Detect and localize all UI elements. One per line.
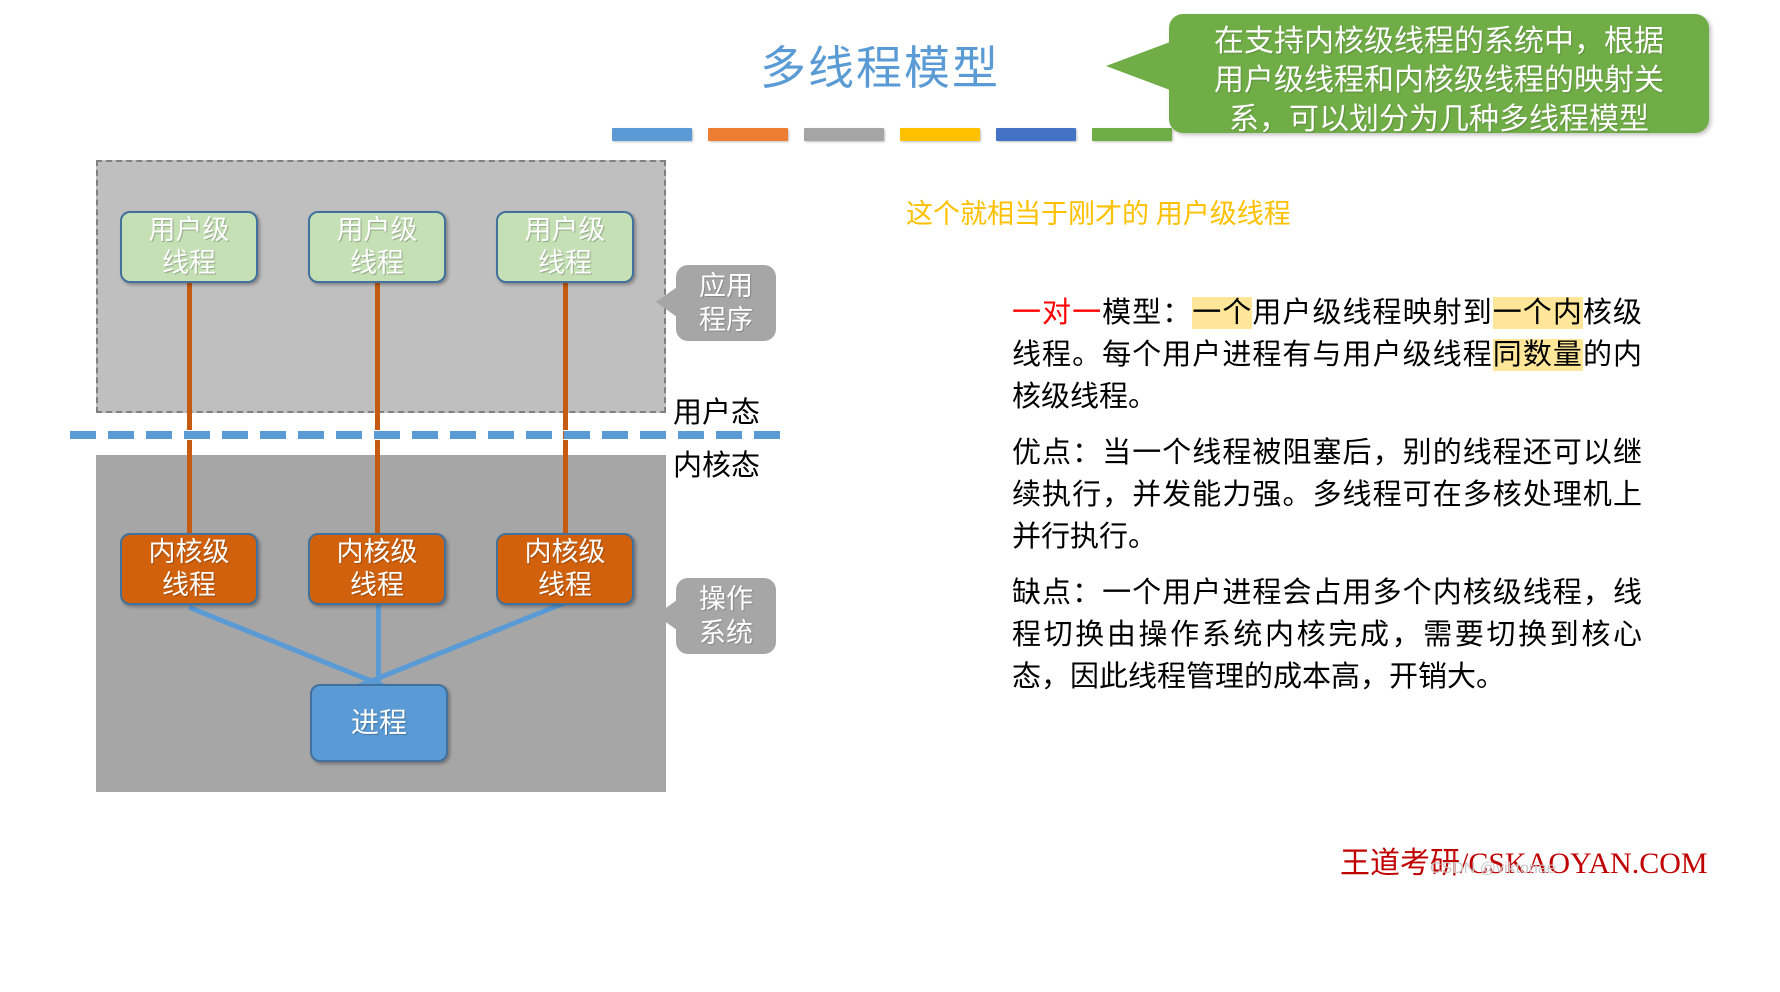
intro-callout-line-1: 在支持内核级线程的系统中，根据	[1183, 22, 1695, 61]
watermark: CSDN @viktoriae	[1430, 860, 1556, 878]
application-callout-tail-icon	[656, 287, 677, 317]
kernel-thread-label-2b: 线程	[350, 569, 404, 602]
accent-bar-2	[708, 128, 788, 141]
user-space-panel	[96, 160, 666, 413]
accent-bar-3	[804, 128, 884, 141]
model-paragraph: 一对一模型：一个用户级线程映射到一个内核级线程。每个用户进程有与用户级线程同数量…	[1012, 292, 1642, 418]
user-thread-label-2a: 用户级	[337, 214, 418, 247]
kernel-thread-label-1a: 内核级	[149, 536, 230, 569]
accent-bar-5	[996, 128, 1076, 141]
process-box[interactable]: 进程	[310, 684, 448, 762]
user-thread-label-2b: 线程	[350, 247, 404, 280]
user-thread-label-3b: 线程	[538, 247, 592, 280]
intro-callout-line-3: 系，可以划分为几种多线程模型	[1183, 100, 1695, 139]
user-mode-label: 用户态	[673, 389, 760, 431]
kernel-thread-label-3b: 线程	[538, 569, 592, 602]
process-label: 进程	[351, 707, 407, 740]
application-callout-line-1: 应用	[699, 269, 753, 303]
kernel-thread-box-1[interactable]: 内核级 线程	[120, 533, 258, 605]
model-highlight-1: 一个	[1192, 297, 1252, 329]
accent-bar-6	[1092, 128, 1172, 141]
pros-paragraph: 优点：当一个线程被阻塞后，别的线程还可以继续执行，并发能力强。多线程可在多核处理…	[1012, 432, 1642, 558]
model-highlight-3: 同	[1493, 339, 1523, 371]
user-thread-label-1b: 线程	[162, 247, 216, 280]
cons-paragraph: 缺点：一个用户进程会占用多个内核级线程，线程切换由操作系统内核完成，需要切换到核…	[1012, 572, 1642, 698]
user-thread-label-3a: 用户级	[525, 214, 606, 247]
user-thread-box-3[interactable]: 用户级 线程	[496, 211, 634, 283]
user-kernel-boundary-line	[70, 430, 788, 440]
kernel-thread-label-2a: 内核级	[337, 536, 418, 569]
connector-user-to-kernel-1	[187, 283, 192, 534]
user-thread-label-1a: 用户级	[149, 214, 230, 247]
user-thread-box-1[interactable]: 用户级 线程	[120, 211, 258, 283]
model-label: 一对一	[1012, 297, 1102, 329]
intro-callout-line-2: 用户级线程和内核级线程的映射关	[1183, 61, 1695, 100]
kernel-thread-label-1b: 线程	[162, 569, 216, 602]
page-title: 多线程模型	[760, 32, 1000, 98]
kernel-thread-label-3a: 内核级	[525, 536, 606, 569]
connector-user-to-kernel-2	[375, 283, 380, 534]
model-highlight-2: 一个内	[1493, 297, 1583, 329]
application-callout-line-2: 程序	[699, 303, 753, 337]
operating-system-callout-tail-icon	[656, 600, 677, 630]
application-callout: 应用 程序	[676, 265, 776, 341]
model-mid-1: 用户级线程映射到	[1252, 297, 1492, 329]
operating-system-callout-line-1: 操作	[699, 582, 753, 616]
connector-user-to-kernel-3	[563, 283, 568, 534]
model-highlight-4: 数量	[1523, 339, 1583, 371]
note-heading: 这个就相当于刚才的 用户级线程	[906, 192, 1291, 231]
operating-system-callout-line-2: 系统	[699, 616, 753, 650]
kernel-thread-box-2[interactable]: 内核级 线程	[308, 533, 446, 605]
intro-callout-text: 在支持内核级线程的系统中，根据 用户级线程和内核级线程的映射关 系，可以划分为几…	[1169, 14, 1709, 139]
kernel-mode-label: 内核态	[673, 442, 760, 484]
model-after-label: 模型：	[1102, 297, 1192, 329]
accent-bar-1	[612, 128, 692, 141]
kernel-thread-box-3[interactable]: 内核级 线程	[496, 533, 634, 605]
callout-tail-icon	[1106, 42, 1170, 90]
operating-system-callout: 操作 系统	[676, 578, 776, 654]
user-thread-box-2[interactable]: 用户级 线程	[308, 211, 446, 283]
title-accent-bars	[612, 128, 1172, 141]
intro-callout: 在支持内核级线程的系统中，根据 用户级线程和内核级线程的映射关 系，可以划分为几…	[1169, 14, 1709, 133]
accent-bar-4	[900, 128, 980, 141]
